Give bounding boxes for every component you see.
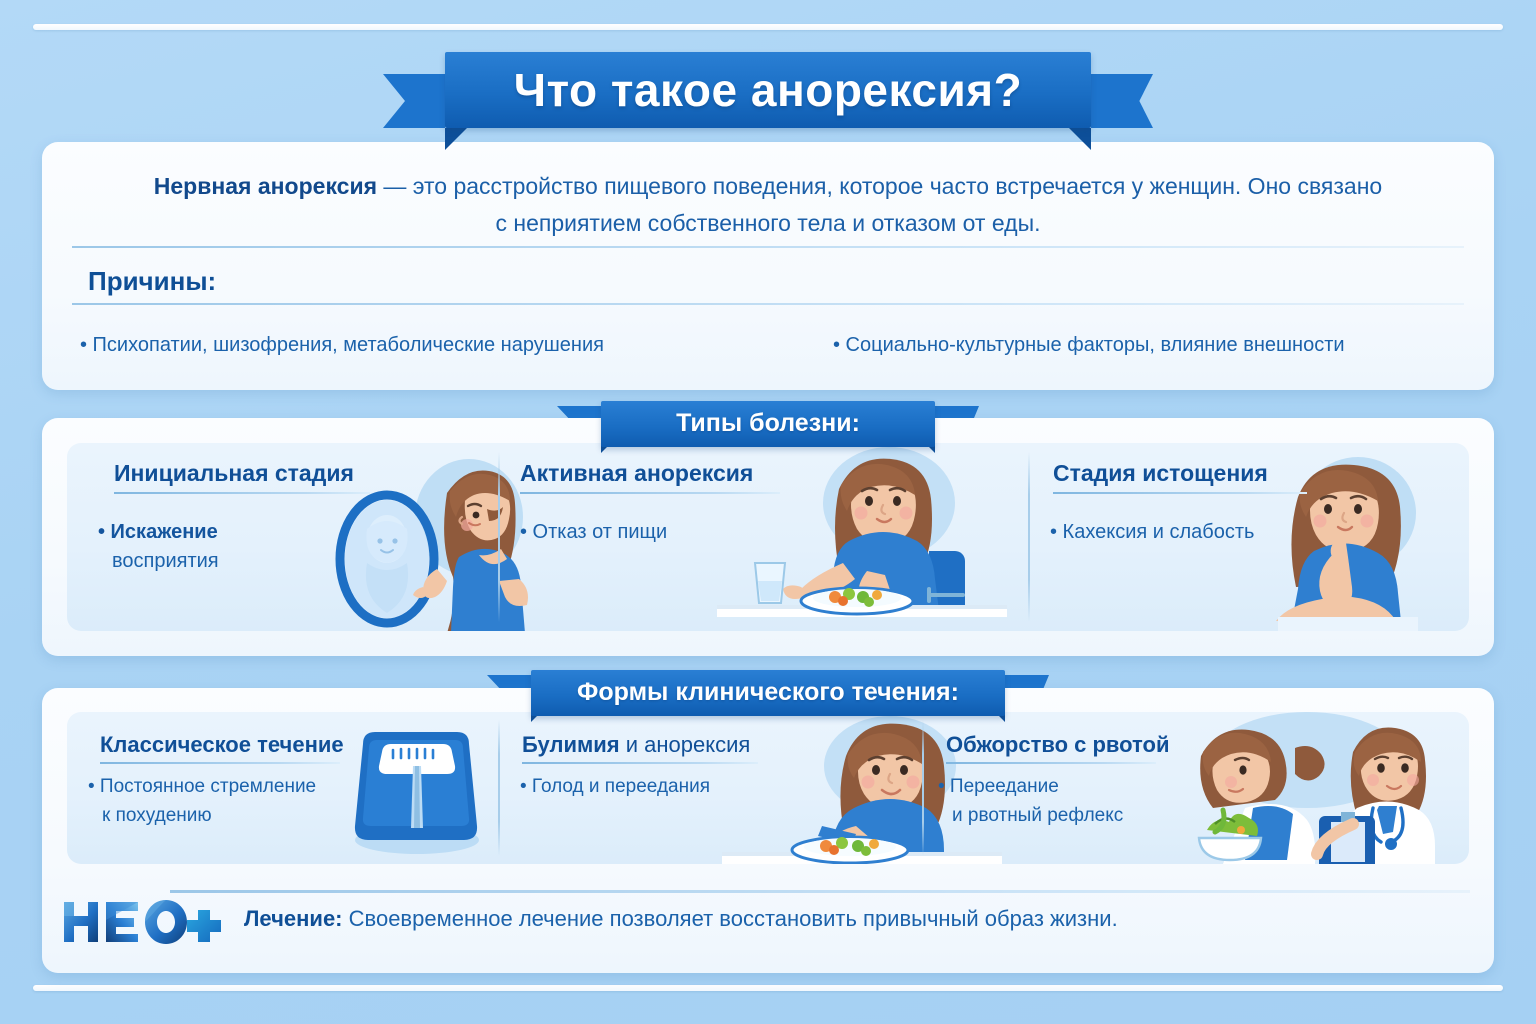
bottom-divider-rule bbox=[33, 985, 1503, 991]
forms-card-1-title: Классическое течение bbox=[100, 732, 344, 758]
types-card-3-bullet-main: • Кахексия и слабость bbox=[1050, 521, 1254, 543]
page-title: Что такое анорексия? bbox=[445, 52, 1091, 128]
forms-card-1-bullet: • Постоянное стремление к похудению bbox=[88, 772, 316, 830]
bathroom-scale-icon bbox=[339, 722, 489, 862]
footer-divider bbox=[170, 890, 1470, 893]
forms-card-3-bullet: • Переедание и рвотный рефлекс bbox=[938, 772, 1123, 830]
ribbon-fold-right bbox=[1069, 128, 1091, 150]
causes-divider bbox=[72, 303, 1464, 305]
forms-divider-1 bbox=[498, 720, 500, 856]
causes-heading: Причины: bbox=[88, 266, 216, 297]
intro-line-1: — это расстройство пищевого поведения, к… bbox=[377, 173, 1382, 199]
intro-text: Нервная анорексия — это расстройство пищ… bbox=[72, 168, 1464, 242]
intro-line-2: с неприятием собственного тела и отказом… bbox=[72, 205, 1464, 242]
types-card-1-underline bbox=[114, 492, 370, 494]
forms-card-2-bullet-main: • Голод и переедания bbox=[520, 776, 710, 797]
forms-card-3-title: Обжорство с рвотой bbox=[946, 732, 1170, 758]
ribbon-tail-left bbox=[383, 74, 445, 128]
intro-divider bbox=[72, 246, 1464, 248]
forms-card-2-bullet: • Голод и переедания bbox=[520, 772, 710, 801]
types-card-1-title: Инициальная стадия bbox=[114, 460, 354, 487]
neo-plus-logo bbox=[62, 896, 222, 948]
types-divider-2 bbox=[1028, 452, 1030, 622]
types-card-2-title: Активная анорексия bbox=[520, 460, 753, 487]
forms-card-1-underline bbox=[100, 762, 340, 764]
forms-card-3-bullet-main: • Переедание bbox=[938, 776, 1059, 797]
types-banner-label: Типы болезни: bbox=[601, 401, 935, 447]
forms-card-3-bullet-second: и рвотный рефлекс bbox=[938, 801, 1123, 830]
types-card-2-bullet: • Отказ от пищи bbox=[520, 518, 667, 547]
types-card-2-underline bbox=[520, 492, 780, 494]
forms-card-2-title: Булимия и анорексия bbox=[522, 732, 750, 758]
types-card-1-bullet-main: • Искажение bbox=[98, 521, 218, 543]
treatment-body: Своевременное лечение позволяет восстано… bbox=[343, 906, 1118, 931]
forms-banner-label: Формы клинического течения: bbox=[531, 670, 1005, 716]
types-card-2-bullet-main: • Отказ от пищи bbox=[520, 521, 667, 543]
forms-card-2-title-strong: Булимия bbox=[522, 732, 620, 757]
cause-item-2: • Социально-культурные факторы, влияние … bbox=[833, 334, 1345, 357]
types-card-3-title: Стадия истощения bbox=[1053, 460, 1268, 487]
types-card-1-bullet: • Искажение восприятия bbox=[98, 518, 219, 576]
forms-card-1-bullet-second: к похудению bbox=[88, 801, 316, 830]
forms-card-2-title-rest: и анорексия bbox=[620, 732, 751, 757]
woman-exhausted-illustration bbox=[1262, 449, 1469, 631]
intro-strong: Нервная анорексия bbox=[154, 173, 377, 199]
forms-banner-ribbon: Формы клинического течения: bbox=[487, 663, 1049, 722]
forms-card-3-underline bbox=[946, 762, 1156, 764]
forms-card-1-bullet-main: • Постоянное стремление bbox=[88, 776, 316, 797]
ribbon-tail-right bbox=[1091, 74, 1153, 128]
page-title-ribbon: Что такое анорексия? bbox=[383, 52, 1153, 128]
types-card-1-bullet-second: восприятия bbox=[98, 547, 219, 576]
infographic-page: Что такое анорексия? Нервная анорексия —… bbox=[0, 0, 1536, 1024]
woman-vomiting-doctor-illustration bbox=[1157, 712, 1457, 864]
top-divider-rule bbox=[33, 24, 1503, 30]
treatment-label: Лечение: bbox=[244, 906, 343, 931]
forms-card-2-underline bbox=[522, 762, 758, 764]
cause-item-1: • Психопатии, шизофрения, метаболические… bbox=[80, 334, 604, 357]
types-banner-ribbon: Типы болезни: bbox=[557, 394, 979, 453]
types-card-3-underline bbox=[1053, 492, 1307, 494]
treatment-text: Лечение: Своевременное лечение позволяет… bbox=[244, 906, 1118, 932]
woman-refusing-food-illustration bbox=[717, 445, 1007, 631]
types-divider-1 bbox=[498, 452, 500, 622]
forms-divider-2 bbox=[922, 720, 924, 856]
ribbon-fold-left bbox=[445, 128, 467, 150]
types-card-3-bullet: • Кахексия и слабость bbox=[1050, 518, 1254, 547]
